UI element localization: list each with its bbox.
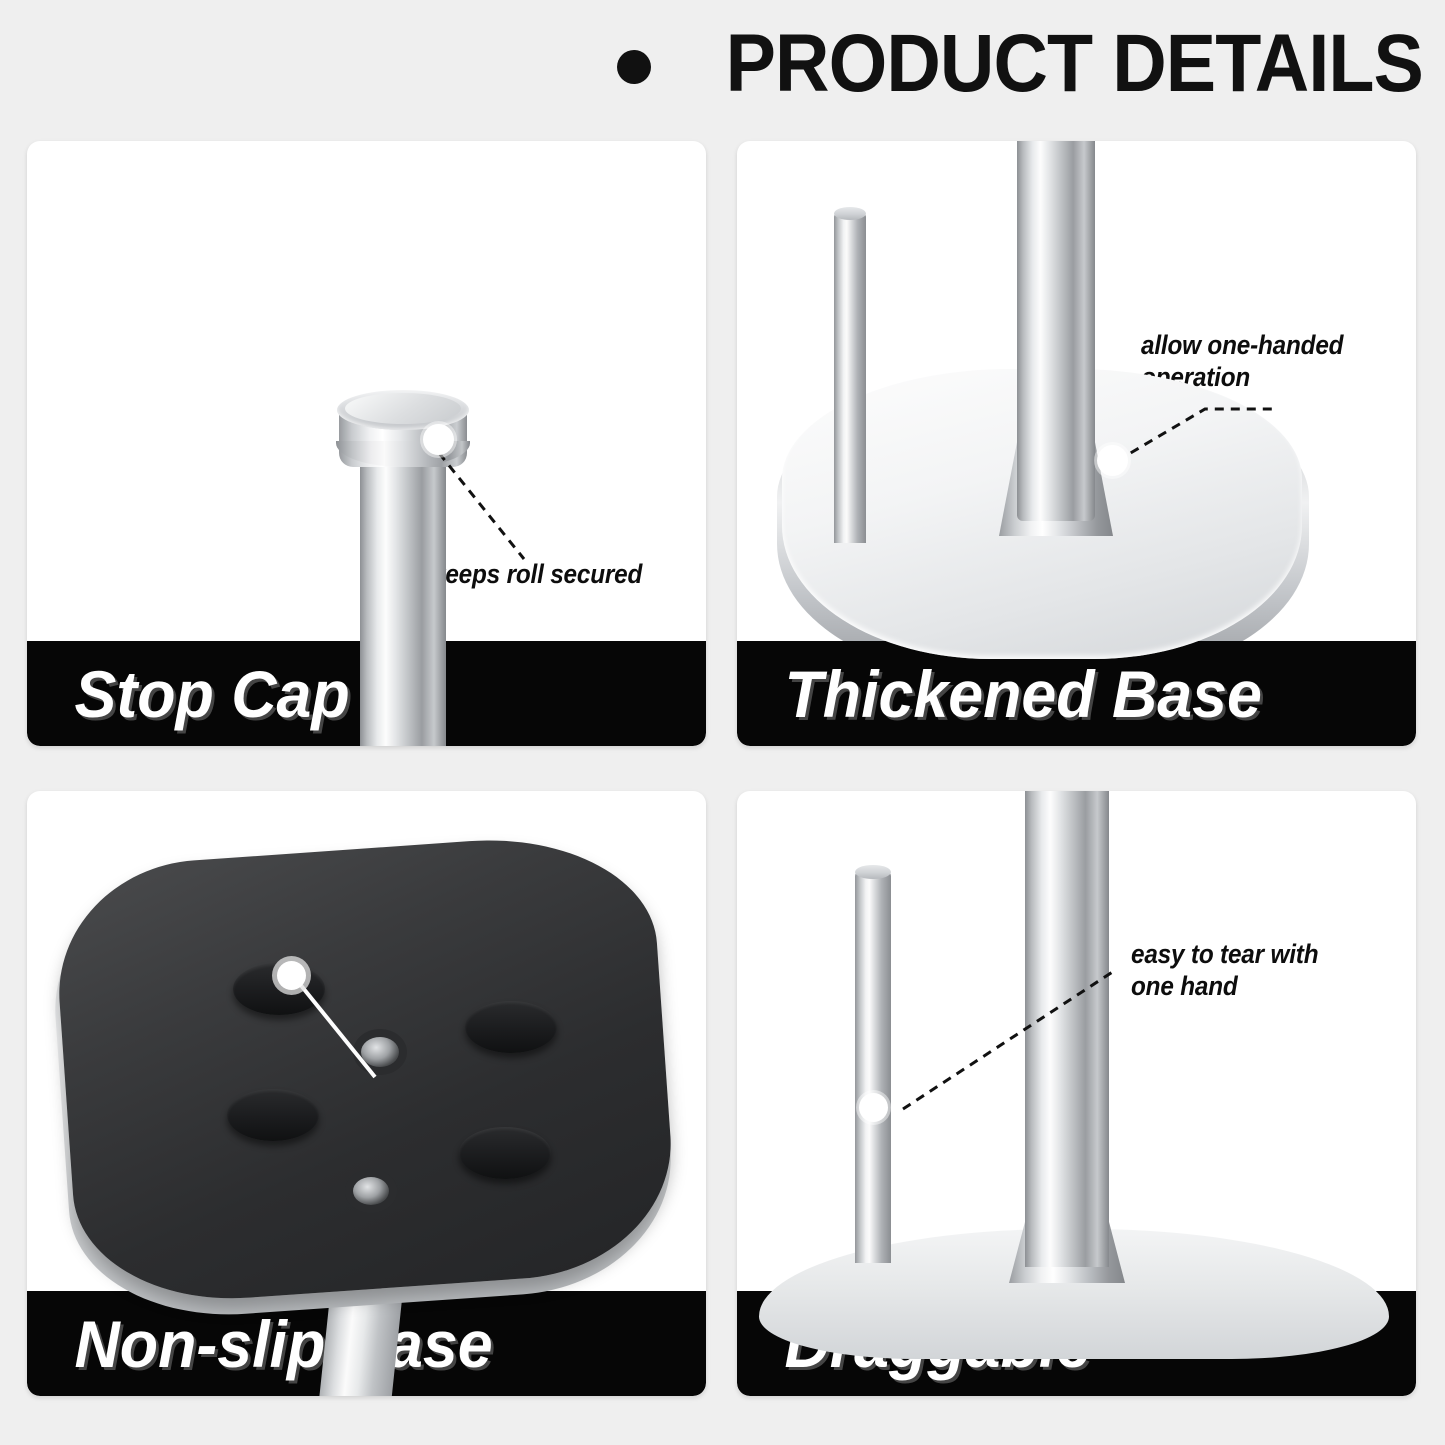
stop-cap-top-inner-shape [345,393,461,424]
detail-panel-thickened-base: allow one-handed operation Thickened Bas… [737,141,1416,746]
product-image-thickened-base: allow one-handed operation [737,141,1416,746]
leader-line-thickened-base [737,141,1416,746]
product-image-draggable: easy to tear with one hand [737,791,1416,1396]
product-image-non-slip-base: effective prevention of movement [27,791,706,1396]
page-header: PRODUCT DETAILS [0,0,1445,128]
marker-dot-non-slip-base [277,961,306,990]
page-title: PRODUCT DETAILS [726,23,1423,105]
leader-line-stop-cap [27,141,706,746]
product-image-stop-cap: keeps roll secured [27,141,706,746]
marker-dot-thickened-base [1097,445,1128,476]
bullet-dot-icon [617,50,651,84]
detail-panel-draggable: easy to tear with one hand Draggable [737,791,1416,1396]
leader-line-draggable [737,791,1416,1396]
marker-dot-draggable [859,1093,888,1122]
leader-line-non-slip-base [27,791,706,1396]
detail-panel-stop-cap: keeps roll secured Stop Cap [27,141,706,746]
detail-panel-non-slip-base: effective prevention of movement Non-sli… [27,791,706,1396]
marker-dot-stop-cap [423,424,454,455]
